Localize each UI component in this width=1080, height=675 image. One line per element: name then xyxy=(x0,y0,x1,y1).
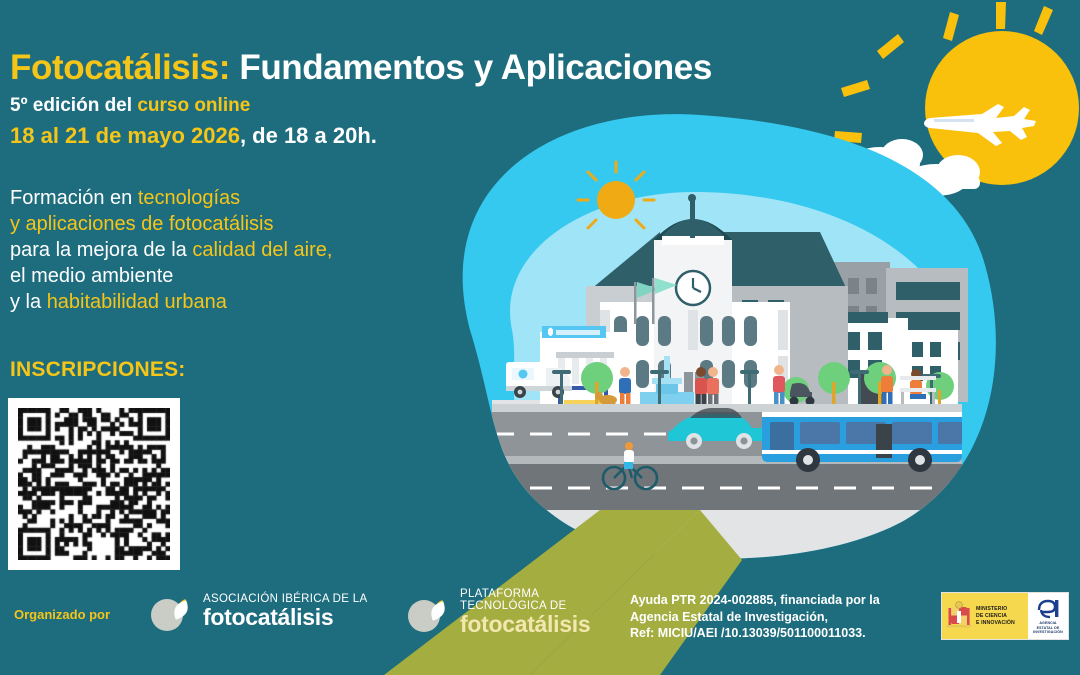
funding-statement: Ayuda PTR 2024-002885, financiada por la… xyxy=(630,592,880,642)
logo-asociacion-iberica: ASOCIACIÓN IBÉRICA DE LA fotocatálisis xyxy=(148,589,367,635)
organized-by-label: Organizado por xyxy=(14,607,110,622)
fotocatalisis-leaf-icon xyxy=(148,589,194,635)
qr-code-canvas[interactable] xyxy=(18,408,170,560)
ministry-line-3: E INNOVACIÓN xyxy=(976,620,1015,627)
fotocatalisis-leaf-icon-2 xyxy=(405,590,451,636)
registration-label: INSCRIPCIONES: xyxy=(10,358,186,382)
ministry-line-2: DE CIENCIA xyxy=(976,613,1015,620)
description-line-4: el medio ambiente xyxy=(10,263,332,289)
description-line-2: y aplicaciones de fotocatálisis xyxy=(10,211,332,237)
title-highlight: Fotocatálisis: xyxy=(10,48,230,87)
logo-plataforma-tecnologica: PLATAFORMA TECNOLÓGICA DE fotocatálisis xyxy=(405,589,590,637)
ministry-badge: MINISTERIO DE CIENCIA E INNOVACIÓN xyxy=(942,593,1028,639)
funding-line-2: Agencia Estatal de Investigación, xyxy=(630,609,880,626)
desc-3-plain: para la mejora de la xyxy=(10,239,192,261)
funding-line-1: Ayuda PTR 2024-002885, financiada por la xyxy=(630,592,880,609)
desc-2-highlight: y aplicaciones de fotocatálisis xyxy=(10,213,273,235)
subtitle-plain: 5º edición del xyxy=(10,95,137,116)
coat-of-arms-icon xyxy=(946,599,972,633)
subtitle-highlight: curso online xyxy=(137,95,250,116)
title-rest: Fundamentos y Aplicaciones xyxy=(239,48,712,87)
poster-canvas: Fotocatálisis: Fundamentos y Aplicacione… xyxy=(0,0,1080,675)
qr-code[interactable] xyxy=(8,398,180,570)
date-line: 18 al 21 de mayo 2026, de 18 a 20h. xyxy=(10,123,377,149)
aei-logo-icon xyxy=(1035,597,1061,621)
desc-1-highlight: tecnologías xyxy=(138,187,240,209)
aei-line-3: INVESTIGACIÓN xyxy=(1033,630,1063,635)
ministry-text: MINISTERIO DE CIENCIA E INNOVACIÓN xyxy=(976,606,1015,627)
funding-line-3: Ref: MICIU/AEI /10.13039/501100011033. xyxy=(630,625,880,642)
description-line-1: Formación en tecnologías xyxy=(10,185,332,211)
aei-badge: AGENCIA ESTATAL DE INVESTIGACIÓN xyxy=(1028,593,1068,639)
desc-1-plain: Formación en xyxy=(10,187,138,209)
description-line-5: y la habitabilidad urbana xyxy=(10,289,332,315)
aei-text: AGENCIA ESTATAL DE INVESTIGACIÓN xyxy=(1033,621,1063,635)
desc-5-highlight: habitabilidad urbana xyxy=(47,291,227,313)
date-hours: , de 18 a 20h. xyxy=(240,123,377,148)
description-line-3: para la mejora de la calidad del aire, xyxy=(10,237,332,263)
subtitle: 5º edición del curso online xyxy=(10,95,250,117)
ministry-line-1: MINISTERIO xyxy=(976,606,1015,613)
logo-ptf-brand: fotocatálisis xyxy=(460,613,590,637)
government-logo: MINISTERIO DE CIENCIA E INNOVACIÓN AGENC… xyxy=(941,592,1069,640)
desc-5-plain: y la xyxy=(10,291,47,313)
date-range: 18 al 21 de mayo 2026 xyxy=(10,123,240,148)
description-block: Formación en tecnologías y aplicaciones … xyxy=(10,185,332,315)
page-title: Fotocatálisis: Fundamentos y Aplicacione… xyxy=(10,48,890,88)
desc-4-plain: el medio ambiente xyxy=(10,265,173,287)
logo-aif-brand: fotocatálisis xyxy=(203,606,367,630)
desc-3-highlight: calidad del aire, xyxy=(192,239,332,261)
